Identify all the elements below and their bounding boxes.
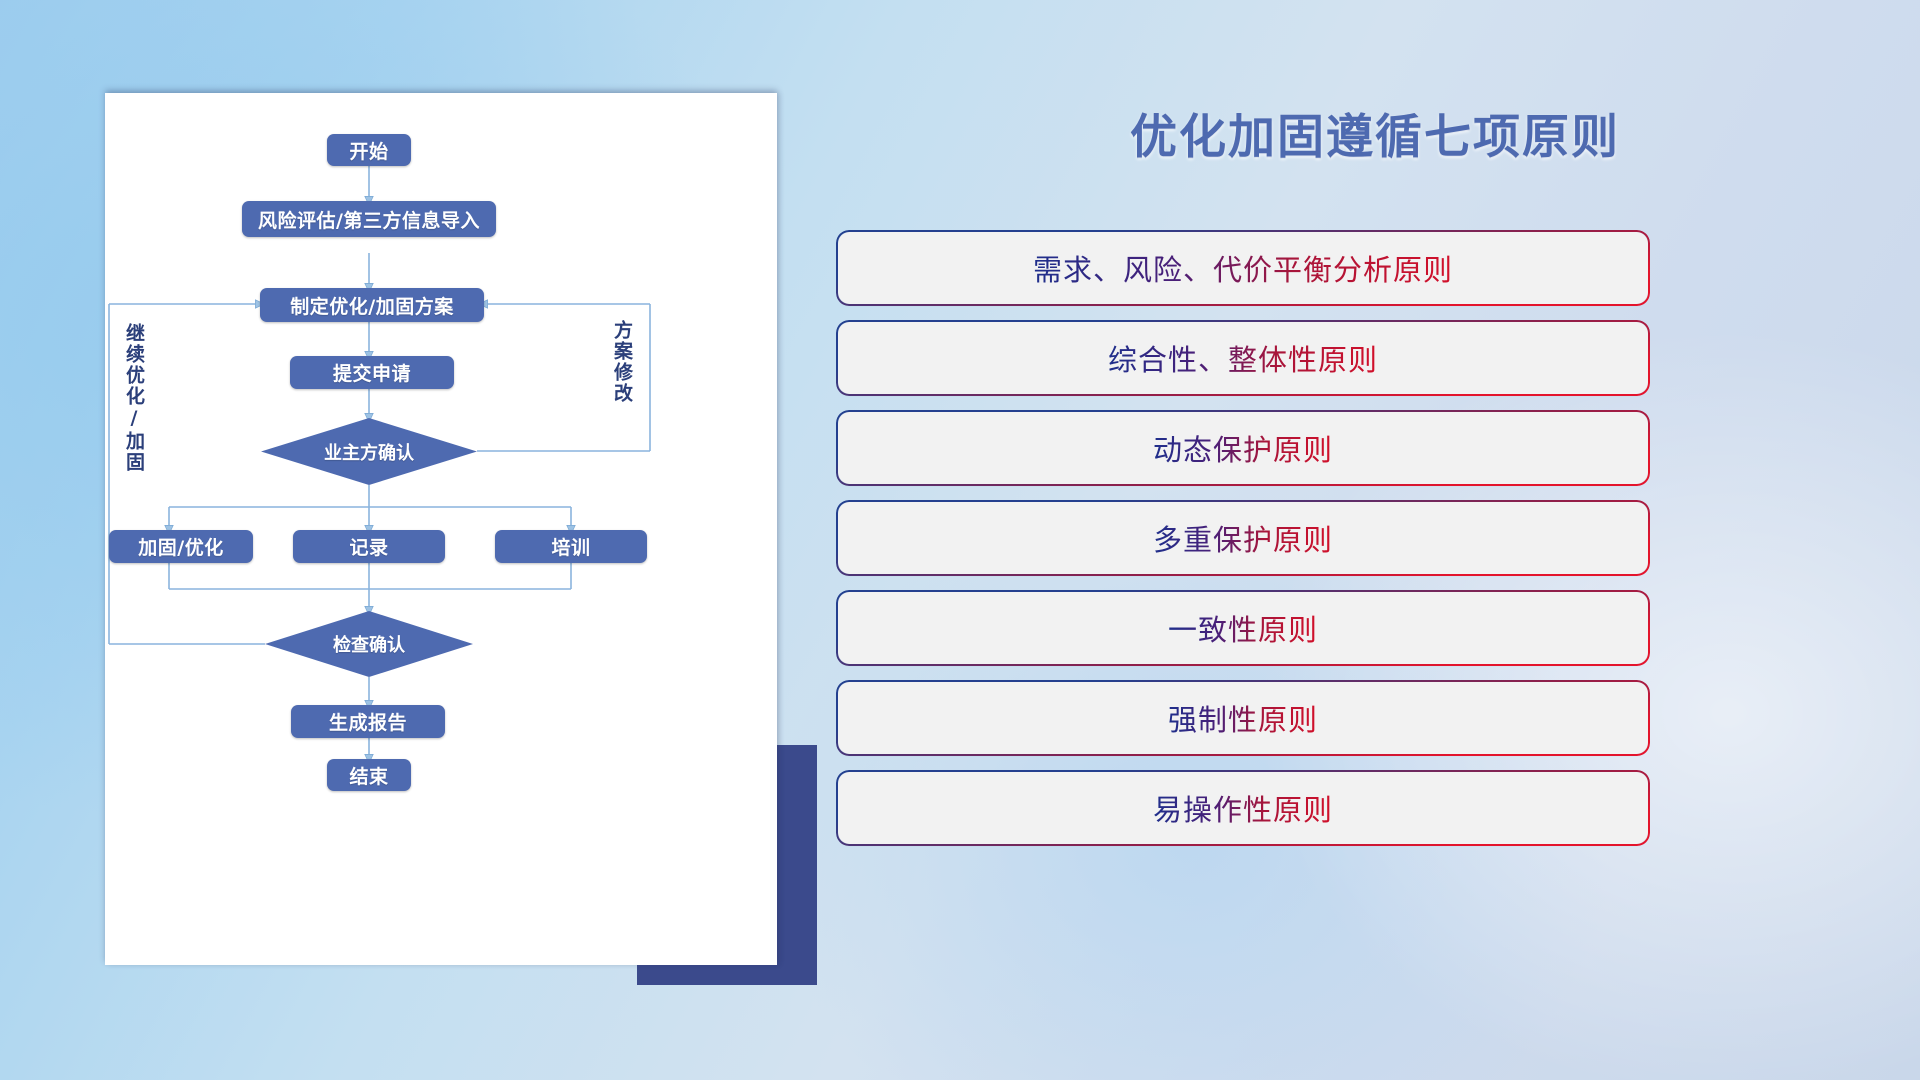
flow-node-training[interactable]: 培训: [495, 530, 647, 563]
flow-node-submit-application[interactable]: 提交申请: [290, 356, 454, 389]
flow-node-check-confirm[interactable]: 检查确认: [265, 611, 473, 677]
principle-item[interactable]: 易操作性原则: [838, 772, 1648, 844]
flow-node-record[interactable]: 记录: [293, 530, 445, 563]
principle-item[interactable]: 需求、风险、代价平衡分析原则: [838, 232, 1648, 304]
flow-node-start[interactable]: 开始: [327, 134, 411, 166]
edge-label-plan-revise: 方案修改: [611, 320, 631, 404]
principle-label: 多重保护原则: [1153, 517, 1333, 559]
principle-item[interactable]: 强制性原则: [838, 682, 1648, 754]
flowchart-card: 开始 风险评估/第三方信息导入 制定优化/加固方案 提交申请 业主方确认 加固/…: [105, 93, 777, 965]
principles-list: 需求、风险、代价平衡分析原则 综合性、整体性原则 动态保护原则 多重保护原则 一…: [838, 232, 1648, 862]
flow-node-owner-confirm[interactable]: 业主方确认: [261, 418, 477, 485]
flow-node-owner-confirm-label: 业主方确认: [324, 439, 414, 465]
edge-label-continue-loop: 继续优化/加固: [123, 323, 143, 473]
principle-label: 强制性原则: [1168, 697, 1318, 739]
flow-node-check-confirm-label: 检查确认: [333, 631, 405, 657]
flow-node-generate-report[interactable]: 生成报告: [291, 705, 445, 738]
principle-label: 动态保护原则: [1153, 427, 1333, 469]
principle-item[interactable]: 一致性原则: [838, 592, 1648, 664]
flowchart-panel: 开始 风险评估/第三方信息导入 制定优化/加固方案 提交申请 业主方确认 加固/…: [0, 0, 830, 1080]
principles-panel: 优化加固遵循七项原则 需求、风险、代价平衡分析原则 综合性、整体性原则 动态保护…: [830, 0, 1920, 1080]
principle-item[interactable]: 多重保护原则: [838, 502, 1648, 574]
principle-item[interactable]: 动态保护原则: [838, 412, 1648, 484]
flow-node-risk-assessment[interactable]: 风险评估/第三方信息导入: [242, 201, 496, 237]
principle-label: 综合性、整体性原则: [1108, 337, 1378, 379]
principle-item[interactable]: 综合性、整体性原则: [838, 322, 1648, 394]
flow-node-make-plan[interactable]: 制定优化/加固方案: [260, 288, 484, 322]
principle-label: 易操作性原则: [1153, 787, 1333, 829]
principle-label: 需求、风险、代价平衡分析原则: [1033, 247, 1453, 289]
flow-node-reinforce-optimize[interactable]: 加固/优化: [109, 530, 253, 563]
principles-title: 优化加固遵循七项原则: [830, 98, 1920, 167]
flow-node-end[interactable]: 结束: [327, 759, 411, 791]
principle-label: 一致性原则: [1168, 607, 1318, 649]
